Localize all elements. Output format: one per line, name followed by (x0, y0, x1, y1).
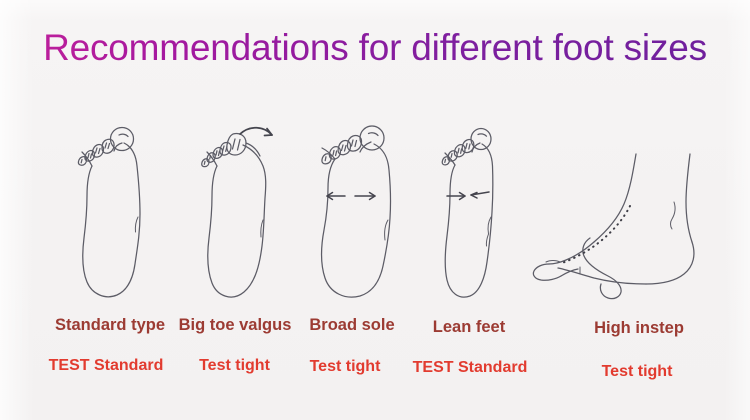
foot-type-label-lean-feet: Lean feet (394, 317, 544, 337)
foot-sole-lean-icon (425, 122, 529, 302)
recommendation-high-instep: Test tight (562, 362, 712, 382)
foot-sole-standard-icon (62, 122, 178, 302)
foot-sole-broad-icon (303, 122, 427, 302)
page-title: Recommendations for different foot sizes (0, 26, 750, 70)
infographic-page: Recommendations for different foot sizes (0, 0, 750, 420)
foot-type-label-high-instep: High instep (559, 318, 719, 338)
foot-sole-big-toe-valgus-icon (186, 122, 314, 302)
recommendation-lean-feet: TEST Standard (385, 358, 555, 378)
foot-side-high-instep-icon (528, 150, 714, 302)
